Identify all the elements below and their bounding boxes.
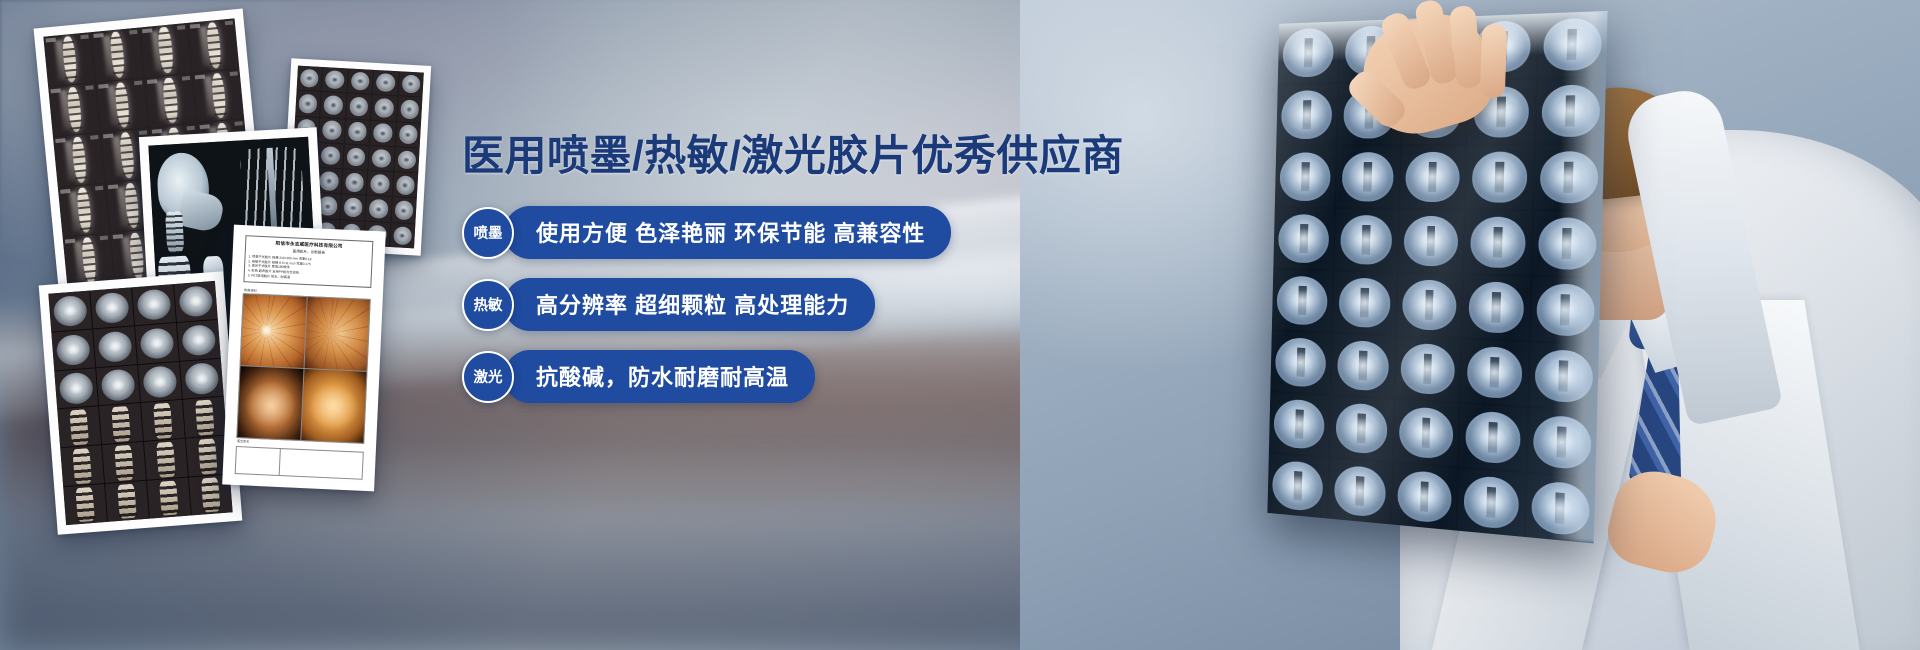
film-samples-stack: 阳信市永志威医疗科技有限公司 医用胶片，诊断报告 1. 喷墨干式胶片 规格 24… — [0, 0, 420, 650]
report-image-grid — [236, 293, 370, 443]
banner-copy: 医用喷墨/热敏/激光胶片优秀供应商 喷墨 使用方便 色泽艳丽 环保节能 高兼容性… — [462, 132, 1082, 422]
feature-row-inkjet: 喷墨 使用方便 色泽艳丽 环保节能 高兼容性 — [462, 206, 1082, 259]
ultrasound-image-left — [237, 366, 303, 440]
doctor-photo — [1020, 0, 1920, 650]
xray-skull-image — [148, 141, 237, 253]
feature-pill-thermal[interactable]: 高分辨率 超细颗粒 高处理能力 — [504, 278, 875, 331]
color-report-sheet: 阳信市永志威医疗科技有限公司 医用胶片，诊断报告 1. 喷墨干式胶片 规格 24… — [222, 225, 386, 492]
feature-badge-thermal[interactable]: 热敏 — [462, 279, 514, 331]
feature-pill-inkjet[interactable]: 使用方便 色泽艳丽 环保节能 高兼容性 — [504, 206, 951, 259]
fundus-image-right — [304, 297, 370, 371]
feature-badge-laser[interactable]: 激光 — [462, 351, 514, 403]
report-signature-box — [235, 446, 364, 480]
brain-mri-film-sheet — [39, 271, 243, 534]
feature-row-thermal: 热敏 高分辨率 超细颗粒 高处理能力 — [462, 278, 1082, 331]
feature-badge-inkjet[interactable]: 喷墨 — [462, 207, 514, 259]
page-title: 医用喷墨/热敏/激光胶片优秀供应商 — [462, 132, 1082, 180]
finger-little — [1480, 24, 1508, 99]
report-header: 阳信市永志威医疗科技有限公司 医用胶片，诊断报告 1. 喷墨干式胶片 规格 24… — [243, 235, 373, 288]
feature-row-laser: 激光 抗酸碱，防水耐磨耐高温 — [462, 350, 1082, 403]
ultrasound-image-right — [301, 369, 367, 443]
fundus-image-left — [241, 294, 307, 368]
feature-list: 喷墨 使用方便 色泽艳丽 环保节能 高兼容性 热敏 高分辨率 超细颗粒 高处理能… — [462, 206, 1082, 403]
promo-banner: 阳信市永志威医疗科技有限公司 医用胶片，诊断报告 1. 喷墨干式胶片 规格 24… — [0, 0, 1920, 650]
feature-pill-laser[interactable]: 抗酸碱，防水耐磨耐高温 — [504, 350, 815, 403]
